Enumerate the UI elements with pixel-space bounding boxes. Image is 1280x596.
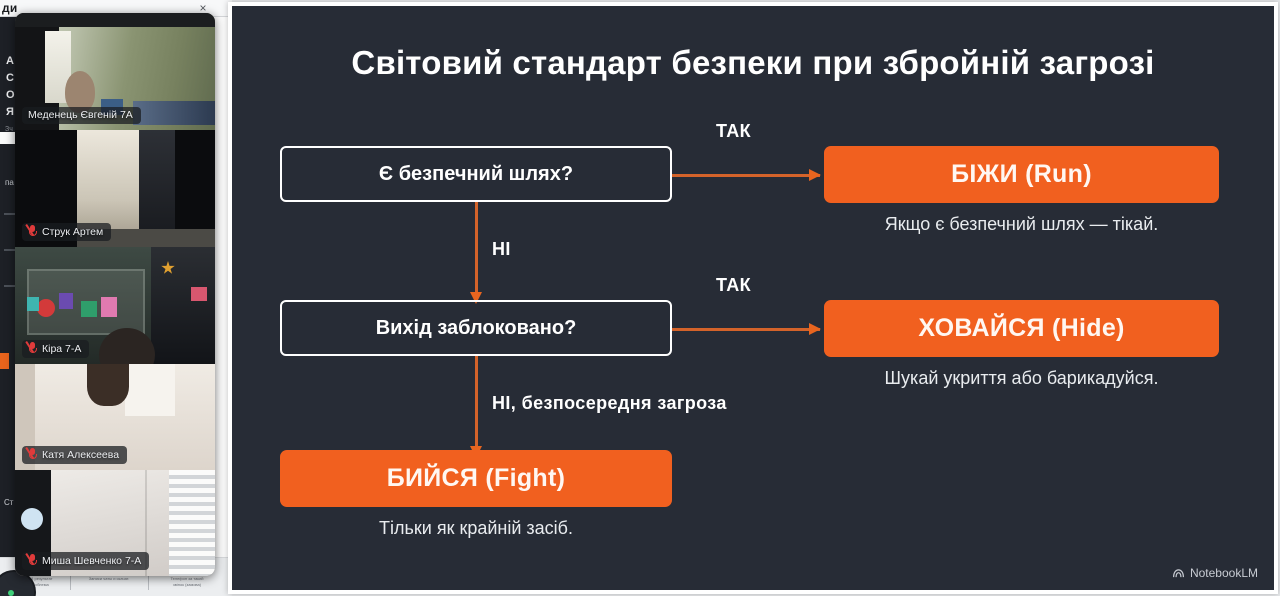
mic-off-icon xyxy=(28,225,37,238)
action-node-hide[interactable]: ХОВАЙСЯ (Hide) xyxy=(824,300,1219,357)
participant-name: Миша Шевченко 7-А xyxy=(42,555,141,567)
participant-name-chip: Меденець Євгеній 7А xyxy=(22,107,141,124)
video-tile[interactable]: Струк Артем xyxy=(15,130,215,247)
tile-scene-bed xyxy=(133,101,215,125)
tile-scene-note xyxy=(191,287,207,301)
video-tile[interactable]: Меденець Євгеній 7А xyxy=(15,13,215,130)
edge-label-yes-1: ТАК xyxy=(716,121,751,142)
caption-fight: Тільки як крайній засіб. xyxy=(280,518,672,539)
caption-hide: Шукай укриття або барикадуйся. xyxy=(824,368,1219,389)
tile-scene-blinds xyxy=(169,470,215,576)
edge-yes-2-arrow xyxy=(672,328,820,331)
edge-label-yes-2: ТАК xyxy=(716,275,751,296)
watermark-text: NotebookLM xyxy=(1190,566,1258,580)
edge-yes-1-arrow xyxy=(672,174,820,177)
video-tile[interactable]: Катя Алексеева xyxy=(15,364,215,470)
edge-no-2-arrow xyxy=(475,356,478,448)
presentation-frame: Світовий стандарт безпеки при збройній з… xyxy=(228,2,1278,594)
mic-off-icon xyxy=(28,554,37,567)
participant-name-chip: Миша Шевченко 7-А xyxy=(22,552,149,570)
participant-name: Кіра 7-А xyxy=(42,343,81,355)
screen-root: ди × А С О Я Зч че па Ст ...ий результат… xyxy=(0,0,1280,596)
tile-scene-person xyxy=(87,364,129,406)
participant-name: Меденець Євгеній 7А xyxy=(28,109,133,121)
background-side-letters-secondary: па xyxy=(5,177,14,188)
participant-name: Струк Артем xyxy=(42,226,103,238)
tile-scene-item xyxy=(27,297,39,311)
slide-title: Світовий стандарт безпеки при збройній з… xyxy=(232,44,1274,82)
tile-scene-fridge xyxy=(151,247,215,364)
tile-scene-lamp xyxy=(21,508,43,530)
participant-name-chip: Струк Артем xyxy=(22,223,111,241)
tile-scene-item xyxy=(101,297,117,317)
notebooklm-watermark: NotebookLM xyxy=(1172,566,1258,580)
background-low-label: Ст xyxy=(4,497,13,508)
tile-scene-item xyxy=(37,299,55,317)
edge-label-no-2: НІ, безпосередня загроза xyxy=(492,393,727,414)
edge-label-no-1: НІ xyxy=(492,239,511,260)
video-tile[interactable]: Миша Шевченко 7-А xyxy=(15,470,215,576)
tile-scene-wall xyxy=(125,364,175,416)
action-node-fight[interactable]: БИЙСЯ (Fight) xyxy=(280,450,672,507)
tile-scene-item xyxy=(81,301,97,317)
mic-off-icon xyxy=(28,448,37,461)
participant-name: Катя Алексеева xyxy=(42,449,119,461)
tile-scene-item xyxy=(59,293,73,309)
video-tile[interactable]: Кіра 7-А xyxy=(15,247,215,364)
decision-node-exit-blocked[interactable]: Вихід заблоковано? xyxy=(280,300,672,356)
video-call-panel[interactable]: Меденець Євгеній 7А Струк Артем xyxy=(15,13,215,576)
participant-name-chip: Катя Алексеева xyxy=(22,446,127,464)
participant-name-chip: Кіра 7-А xyxy=(22,340,89,358)
action-node-run[interactable]: БІЖИ (Run) xyxy=(824,146,1219,203)
toolbar-hint-3: Телефон за такийзвінок (замова) xyxy=(156,576,218,587)
caption-run: Якщо є безпечний шлях — тікай. xyxy=(824,214,1219,235)
edge-no-1-arrow xyxy=(475,202,478,294)
slide-canvas[interactable]: Світовий стандарт безпеки при збройній з… xyxy=(232,6,1274,590)
decision-node-safe-route[interactable]: Є безпечний шлях? xyxy=(280,146,672,202)
background-side-letters: А С О Я xyxy=(6,53,15,121)
notebooklm-logo-icon xyxy=(1172,568,1185,579)
background-orange-chip xyxy=(0,353,9,369)
status-dot xyxy=(8,590,14,596)
mic-off-icon xyxy=(28,342,37,355)
toolbar-hint-2: Записи чаты и скачат. xyxy=(78,576,140,582)
